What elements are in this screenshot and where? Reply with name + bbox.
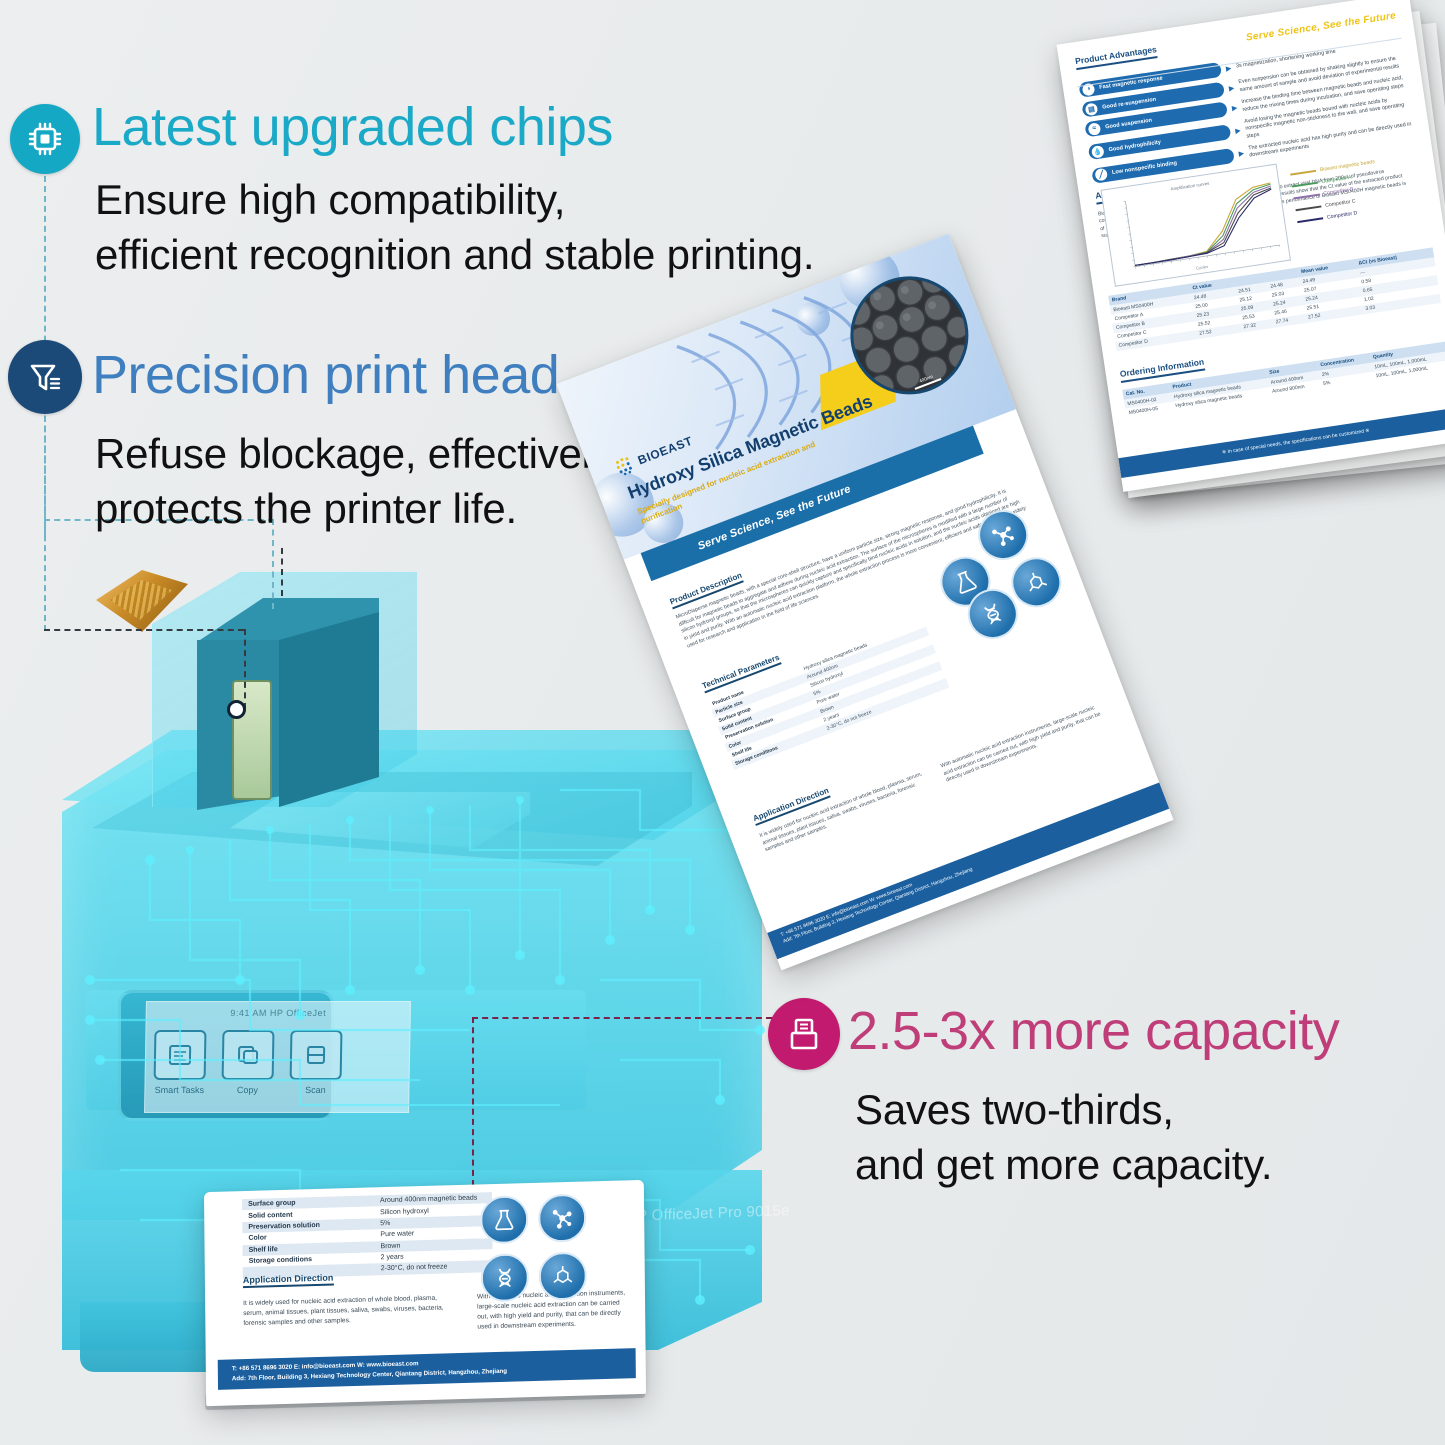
lcd-tile-row: Smart Tasks Copy Scan xyxy=(153,1030,342,1095)
funnel-filter-icon xyxy=(23,355,67,399)
ink-cartridge-icon xyxy=(783,1013,825,1055)
callout-line-chip-top xyxy=(281,548,283,596)
feature-body-line: protects the printer life. xyxy=(95,482,612,537)
feature-body-line: Refuse blockage, effectively xyxy=(95,427,612,482)
table-row: MS0400H-02Hydroxy silica magnetic beadsA… xyxy=(1124,351,1445,409)
ordering-heading: Ordering Information xyxy=(1119,357,1205,383)
feature-body-line: and get more capacity. xyxy=(855,1138,1272,1193)
callout-line-capacity-h xyxy=(472,1017,772,1019)
molecule-icon xyxy=(538,1193,586,1242)
chevron-right-icon: ▶ xyxy=(1225,64,1232,73)
legend-swatch xyxy=(1290,170,1316,176)
tube-icon: ▤ xyxy=(1085,102,1099,116)
amplification-chart: Amplification curves Cycles xyxy=(1100,164,1291,287)
feature-body-line: efficient recognition and stable printin… xyxy=(95,228,814,283)
footnote-text: ※ In case of special needs, the specific… xyxy=(1222,428,1370,456)
feature-title-capacity: 2.5-3x more capacity xyxy=(848,1000,1339,1062)
printed-output-sheet: Surface groupAround 400nm magnetic beads… xyxy=(204,1180,646,1406)
feature-title-printhead: Precision print head xyxy=(92,344,559,406)
legend-label: Competitor B xyxy=(1323,187,1354,197)
lcd-tile-label: Smart Tasks xyxy=(153,1085,205,1095)
legend-label: Competitor C xyxy=(1325,198,1356,208)
printed-parameters-table: Surface groupAround 400nm magnetic beads… xyxy=(242,1192,493,1279)
advantage-label: Good suspension xyxy=(1105,117,1153,130)
legend-swatch xyxy=(1292,182,1318,188)
application-direction-text-2: With automatic nucleic acid extraction i… xyxy=(940,702,1109,785)
droplet-icon: 💧 xyxy=(1091,145,1105,159)
printed-icon-cluster xyxy=(480,1193,593,1308)
advantage-label: Good hydrophilicity xyxy=(1108,139,1161,153)
wave-icon: ≈ xyxy=(1088,122,1102,136)
callout-dot-cartridge xyxy=(227,700,246,719)
ordering-information-table: Cat. No.ProductSizeConcentrationQuantity… xyxy=(1122,341,1445,418)
advantage-label: Low nonspecific binding xyxy=(1112,161,1178,177)
feature-body-line: Ensure high compatibility, xyxy=(95,173,814,228)
ink-cartridge-icon-badge xyxy=(768,998,840,1070)
lcd-tile-label: Copy xyxy=(221,1085,273,1095)
cartridge-right-face xyxy=(279,612,379,807)
lcd-tile-smart-tasks[interactable]: Smart Tasks xyxy=(153,1030,206,1095)
flask-icon xyxy=(480,1195,528,1244)
dna-helix-icon xyxy=(481,1253,529,1302)
ink-cartridge xyxy=(183,598,379,823)
printed-direction-heading: Application Direction xyxy=(243,1273,334,1289)
promo-image-canvas: 9:41 AM HP OfficeJet Smart Tasks Copy xyxy=(0,0,1445,1445)
product-advantages-document: Serve Science, See the Future Product Ad… xyxy=(1057,0,1445,492)
microchip-icon-badge xyxy=(10,104,80,174)
legend-swatch xyxy=(1294,194,1320,200)
lcd-tile-copy[interactable]: Copy xyxy=(221,1030,274,1095)
feature-body-line: Saves two-thirds, xyxy=(855,1083,1272,1138)
svg-text:Cycles: Cycles xyxy=(1196,264,1209,271)
legend-swatch xyxy=(1297,217,1323,223)
param-value: 2-30°C, do not freeze xyxy=(375,1260,493,1275)
legend-swatch xyxy=(1295,205,1321,211)
chevron-right-icon: ▶ xyxy=(1235,127,1242,136)
callout-line-chips-v xyxy=(244,629,246,709)
funnel-filter-icon-badge xyxy=(8,340,82,414)
legend-label: Competitor D xyxy=(1327,210,1358,220)
printed-direction-text: It is widely used for nucleic acid extra… xyxy=(243,1293,457,1329)
chevron-right-icon: ▶ xyxy=(1231,103,1238,112)
chevron-right-icon: ▶ xyxy=(1238,150,1245,159)
advantages-heading: Product Advantages xyxy=(1074,44,1158,70)
lcd-tile-scan[interactable]: Scan xyxy=(289,1030,342,1095)
scan-icon xyxy=(290,1030,343,1080)
slash-icon: ╱ xyxy=(1094,168,1108,182)
chemical-structure-icon xyxy=(539,1251,587,1300)
smart-tasks-icon xyxy=(154,1030,207,1080)
legend-label: Competitor A xyxy=(1321,175,1352,185)
feature-body-capacity: Saves two-thirds, and get more capacity. xyxy=(855,1083,1272,1192)
feature-body-chips: Ensure high compatibility, efficient rec… xyxy=(95,173,814,282)
microchip-icon xyxy=(24,118,66,160)
copy-icon xyxy=(222,1030,275,1080)
feature-title-chips: Latest upgraded chips xyxy=(92,96,613,158)
callout-line-chips-h xyxy=(44,629,244,631)
callout-line-printhead xyxy=(44,416,46,536)
printed-footer-band: T: +86 571 8696 3020 E: info@bioeast.com… xyxy=(218,1348,636,1390)
chart-legend: Bioeast magnetic beads Competitor A Comp… xyxy=(1290,159,1383,231)
chevron-right-icon: ▶ xyxy=(1228,84,1235,93)
advantage-label: Good re-suspension xyxy=(1102,96,1157,110)
lcd-tile-label: Scan xyxy=(289,1085,341,1095)
cartridge-nozzle-plate xyxy=(232,680,272,800)
lcd-status-text: 9:41 AM HP OfficeJet xyxy=(147,1008,410,1018)
feature-body-printhead: Refuse blockage, effectively protects th… xyxy=(95,427,612,536)
printer-lcd-screen[interactable]: 9:41 AM HP OfficeJet Smart Tasks Copy xyxy=(144,1001,411,1113)
technical-parameters-table: Product nameHydroxy silica magnetic bead… xyxy=(708,618,949,769)
